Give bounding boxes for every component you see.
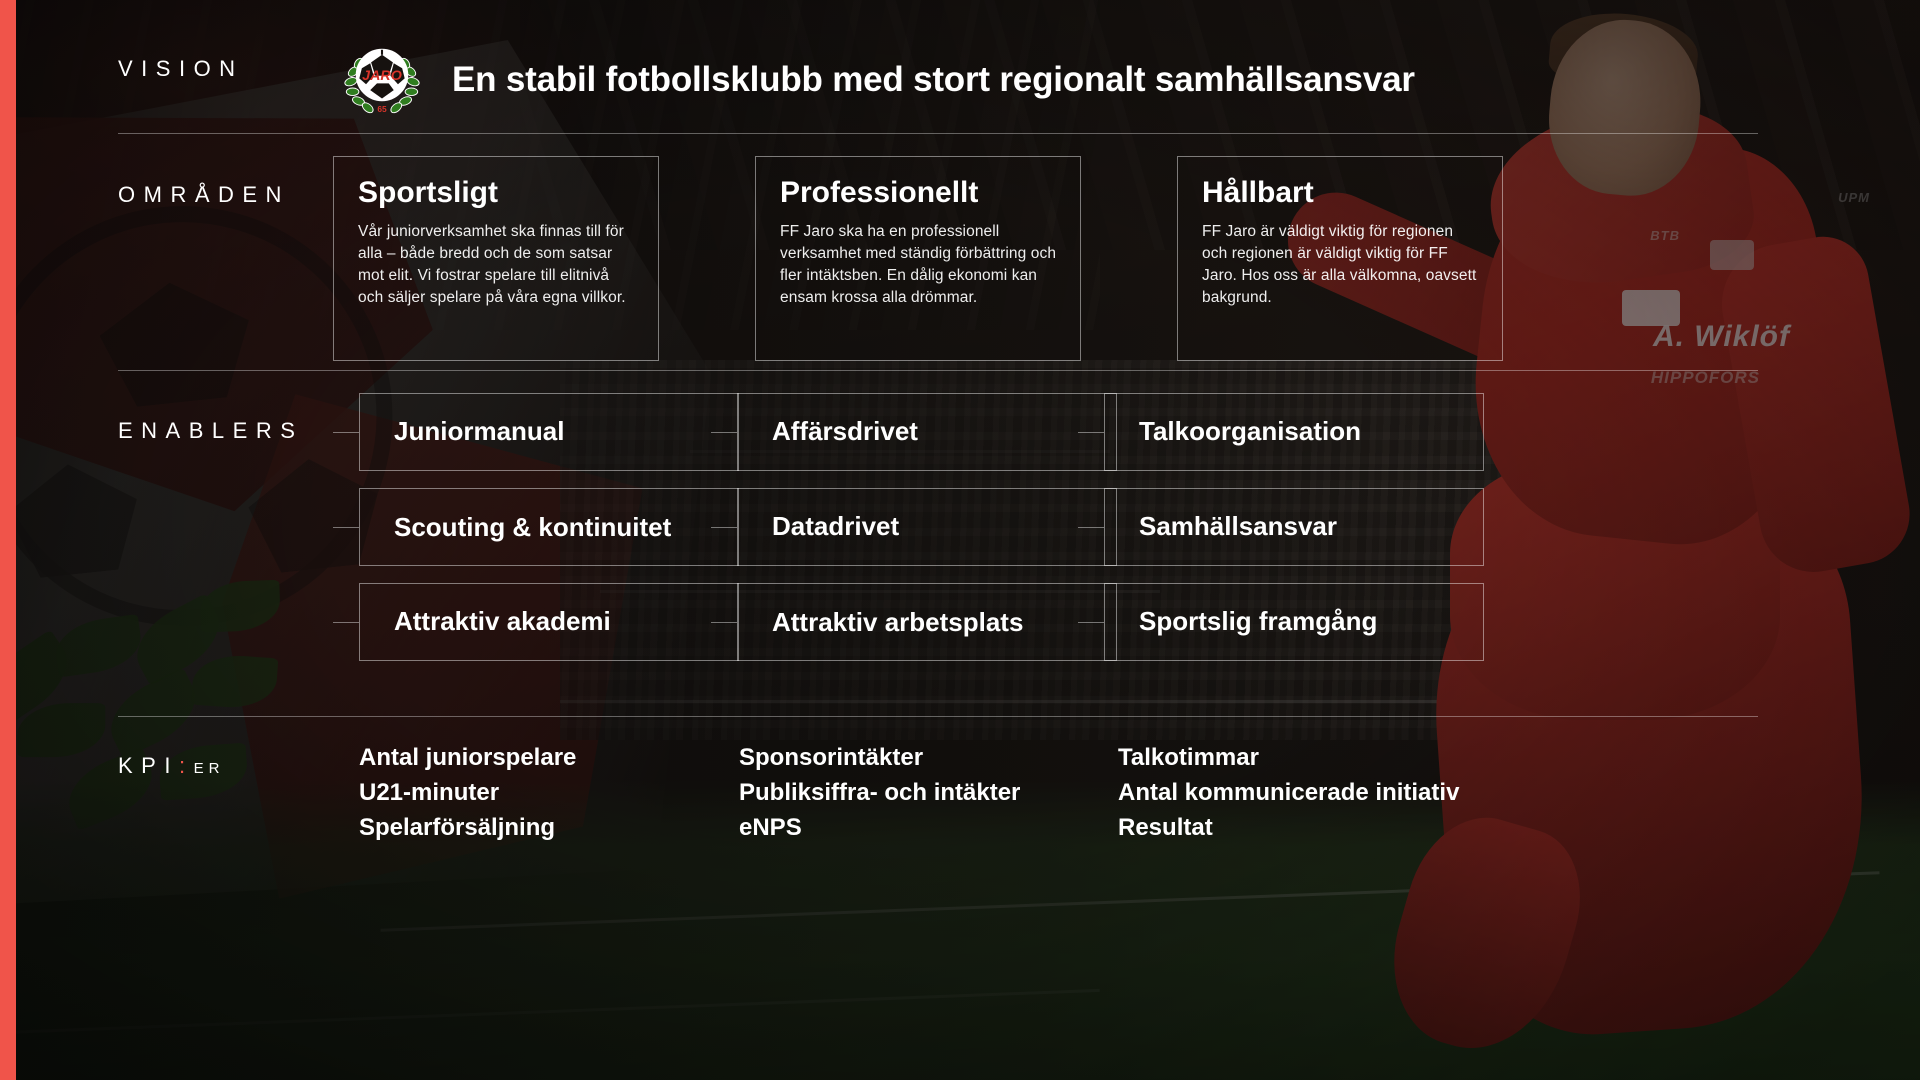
vision-row: JARO 65 En stabil fotbollsklubb med stor… <box>340 38 1415 122</box>
enabler-box[interactable]: Attraktiv arbetsplats <box>737 583 1117 661</box>
omrade-card-professionellt[interactable]: Professionellt FF Jaro ska ha en profess… <box>755 156 1081 361</box>
enabler-column-1: Juniormanual Scouting & kontinuitet Attr… <box>359 393 739 678</box>
kpi-label-suffix: ER <box>194 760 225 777</box>
card-body: Vår juniorverksamhet ska finnas till för… <box>358 221 636 309</box>
row-label-vision: VISION <box>118 56 244 82</box>
enabler-box[interactable]: Datadrivet <box>737 488 1117 566</box>
connector-line <box>333 432 359 433</box>
crest-year-text: 65 <box>377 104 387 114</box>
kpi-item: eNPS <box>739 810 1020 845</box>
kpi-column-3: Talkotimmar Antal kommunicerade initiati… <box>1118 740 1459 845</box>
divider-omraden <box>118 370 1758 371</box>
crest-jaro-text: JARO <box>362 68 402 84</box>
kpi-item: Spelarförsäljning <box>359 810 576 845</box>
omraden-cards: Sportsligt Vår juniorverksamhet ska finn… <box>333 156 1878 361</box>
omrade-card-sportsligt[interactable]: Sportsligt Vår juniorverksamhet ska finn… <box>333 156 659 361</box>
kpi-item: Antal kommunicerade initiativ <box>1118 775 1459 810</box>
enabler-box[interactable]: Scouting & kontinuitet <box>359 488 739 566</box>
card-title: Hållbart <box>1202 177 1480 209</box>
enabler-box[interactable]: Samhällsansvar <box>1104 488 1484 566</box>
enabler-column-2: Affärsdrivet Datadrivet Attraktiv arbets… <box>737 393 1117 678</box>
kpi-item: Antal juniorspelare <box>359 740 576 775</box>
divider-vision <box>118 133 1758 134</box>
connector-line <box>711 527 737 528</box>
connector-line <box>1078 527 1104 528</box>
card-body: FF Jaro är väldigt viktig för regionen o… <box>1202 221 1480 309</box>
left-accent-bar <box>0 0 16 1080</box>
enabler-column-3: Talkoorganisation Samhällsansvar Sportsl… <box>1104 393 1484 678</box>
row-label-enablers: ENABLERS <box>118 418 303 444</box>
kpi-column-1: Antal juniorspelare U21-minuter Spelarfö… <box>359 740 576 845</box>
strategy-poster: A. Wiklöf HIPPOFORS BTB UPM VISION <box>0 0 1920 1080</box>
connector-line <box>333 622 359 623</box>
card-title: Sportsligt <box>358 177 636 209</box>
kpi-label-colon: : <box>179 753 194 778</box>
kpi-label-main: KPI <box>118 753 179 778</box>
connector-line <box>333 527 359 528</box>
kpi-column-2: Sponsorintäkter Publiksiffra- och intäkt… <box>739 740 1020 845</box>
connector-line <box>1078 622 1104 623</box>
enabler-box[interactable]: Talkoorganisation <box>1104 393 1484 471</box>
kpi-item: Talkotimmar <box>1118 740 1459 775</box>
connector-line <box>711 432 737 433</box>
kpi-item: Publiksiffra- och intäkter <box>739 775 1020 810</box>
enabler-box[interactable]: Juniormanual <box>359 393 739 471</box>
omrade-card-hallbart[interactable]: Hållbart FF Jaro är väldigt viktig för r… <box>1177 156 1503 361</box>
connector-line <box>711 622 737 623</box>
enablers-grid: Juniormanual Scouting & kontinuitet Attr… <box>333 393 1893 683</box>
row-label-kpi: KPI:ER <box>118 753 224 779</box>
divider-enablers <box>118 716 1758 717</box>
card-body: FF Jaro ska ha en professionell verksamh… <box>780 221 1058 309</box>
connector-line <box>1078 432 1104 433</box>
vision-title: En stabil fotbollsklubb med stort region… <box>452 60 1415 100</box>
kpi-item: Resultat <box>1118 810 1459 845</box>
row-label-omraden: OMRÅDEN <box>118 182 290 208</box>
ff-jaro-crest-icon: JARO 65 <box>340 38 424 122</box>
kpi-item: Sponsorintäkter <box>739 740 1020 775</box>
enabler-box[interactable]: Attraktiv akademi <box>359 583 739 661</box>
kpi-item: U21-minuter <box>359 775 576 810</box>
card-title: Professionellt <box>780 177 1058 209</box>
enabler-box[interactable]: Affärsdrivet <box>737 393 1117 471</box>
enabler-box[interactable]: Sportslig framgång <box>1104 583 1484 661</box>
